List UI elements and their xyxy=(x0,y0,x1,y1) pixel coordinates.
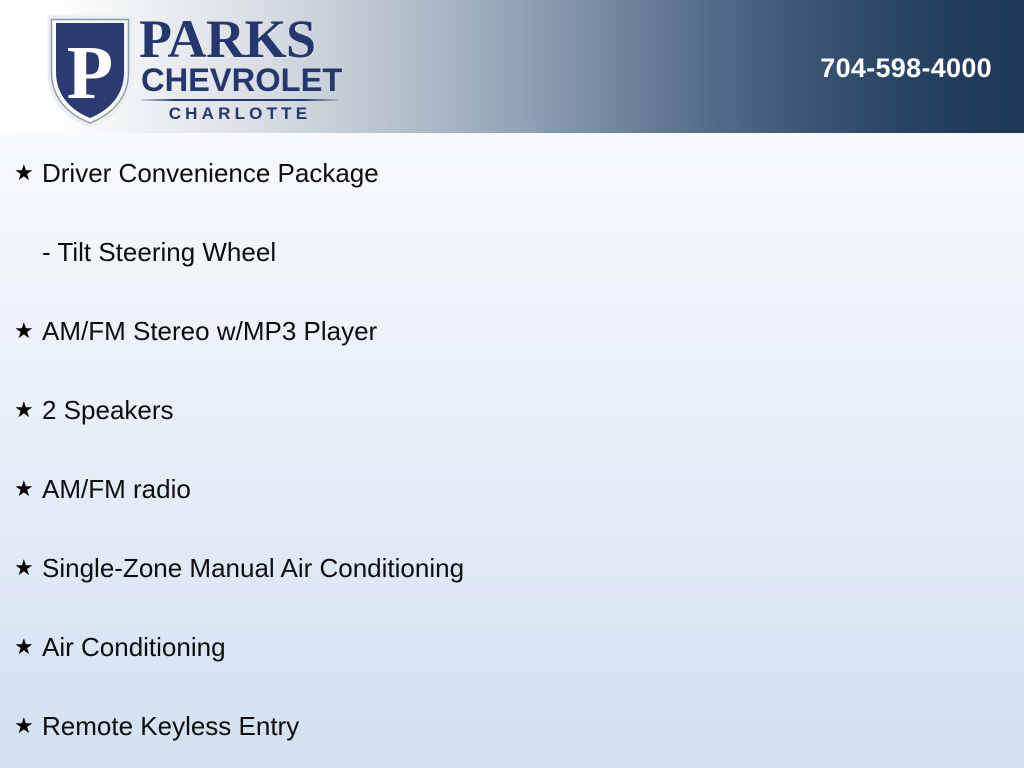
star-bullet-icon: ★ xyxy=(14,320,42,342)
star-bullet-icon: ★ xyxy=(14,399,42,421)
feature-label: Remote Keyless Entry xyxy=(42,711,299,741)
star-bullet-icon: ★ xyxy=(14,557,42,579)
feature-label: AM/FM Stereo w/MP3 Player xyxy=(42,316,377,346)
star-bullet-icon: ★ xyxy=(14,478,42,500)
feature-item: ★Driver Convenience Package xyxy=(0,133,1024,212)
feature-label: Single-Zone Manual Air Conditioning xyxy=(42,553,464,583)
svg-text:P: P xyxy=(67,31,113,115)
star-bullet-icon: ★ xyxy=(14,162,42,184)
feature-item: ★AM/FM Stereo w/MP3 Player xyxy=(0,291,1024,370)
shield-icon: P xyxy=(44,12,136,130)
feature-item: ★Air Conditioning xyxy=(0,607,1024,686)
brand-divider xyxy=(141,99,339,101)
feature-label: 2 Speakers xyxy=(42,395,174,425)
dealer-logo[interactable]: P PARKS CHEVROLET CHARLOTTE xyxy=(44,8,344,128)
brand-wordmark: PARKS CHEVROLET CHARLOTTE xyxy=(137,8,347,123)
dealer-phone-number[interactable]: 704-598-4000 xyxy=(820,53,992,83)
star-bullet-icon: ★ xyxy=(14,636,42,658)
feature-label: - Tilt Steering Wheel xyxy=(42,237,276,267)
feature-label: Air Conditioning xyxy=(42,632,226,662)
vehicle-features-list: ★Driver Convenience Package- Tilt Steeri… xyxy=(0,133,1024,765)
feature-label: Driver Convenience Package xyxy=(42,158,379,188)
feature-item: ★AM/FM radio xyxy=(0,449,1024,528)
site-header: P PARKS CHEVROLET CHARLOTTE 704-598-4000 xyxy=(0,0,1024,133)
brand-name-parks: PARKS xyxy=(139,12,347,66)
feature-item: ★Remote Keyless Entry xyxy=(0,686,1024,765)
brand-name-chevrolet: CHEVROLET xyxy=(141,64,351,96)
feature-label: AM/FM radio xyxy=(42,474,191,504)
brand-location: CHARLOTTE xyxy=(141,105,339,123)
star-bullet-icon: ★ xyxy=(14,715,42,737)
feature-item: ★Single-Zone Manual Air Conditioning xyxy=(0,528,1024,607)
feature-item: - Tilt Steering Wheel xyxy=(0,212,1024,291)
feature-item: ★2 Speakers xyxy=(0,370,1024,449)
